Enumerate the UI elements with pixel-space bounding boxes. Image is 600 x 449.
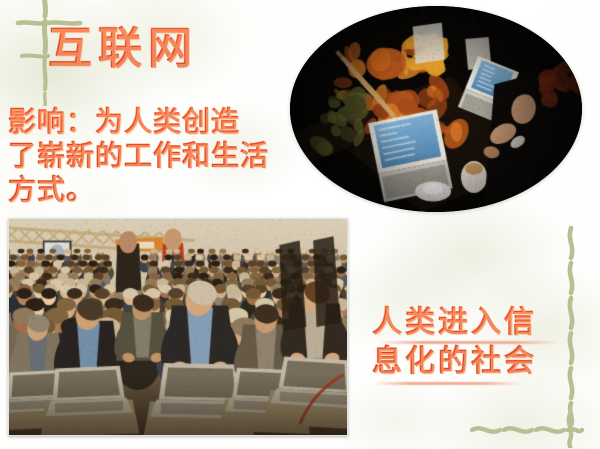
- cafe-photo-canvas: [290, 6, 582, 212]
- slide-caption-text: 人类进入信 息化的社会: [372, 303, 537, 381]
- slide-body-text: 影响：为人类创造 了崭新的工作和生活 方式。: [8, 105, 269, 207]
- presentation-slide: 互联网 影响：为人类创造 了崭新的工作和生活 方式。 人类进入信 息化的社会: [0, 0, 600, 449]
- audience-photo-canvas: [9, 219, 347, 435]
- cafe-oval-photo: [290, 6, 582, 212]
- audience-photo: [8, 218, 348, 436]
- slide-title: 互联网: [48, 24, 198, 73]
